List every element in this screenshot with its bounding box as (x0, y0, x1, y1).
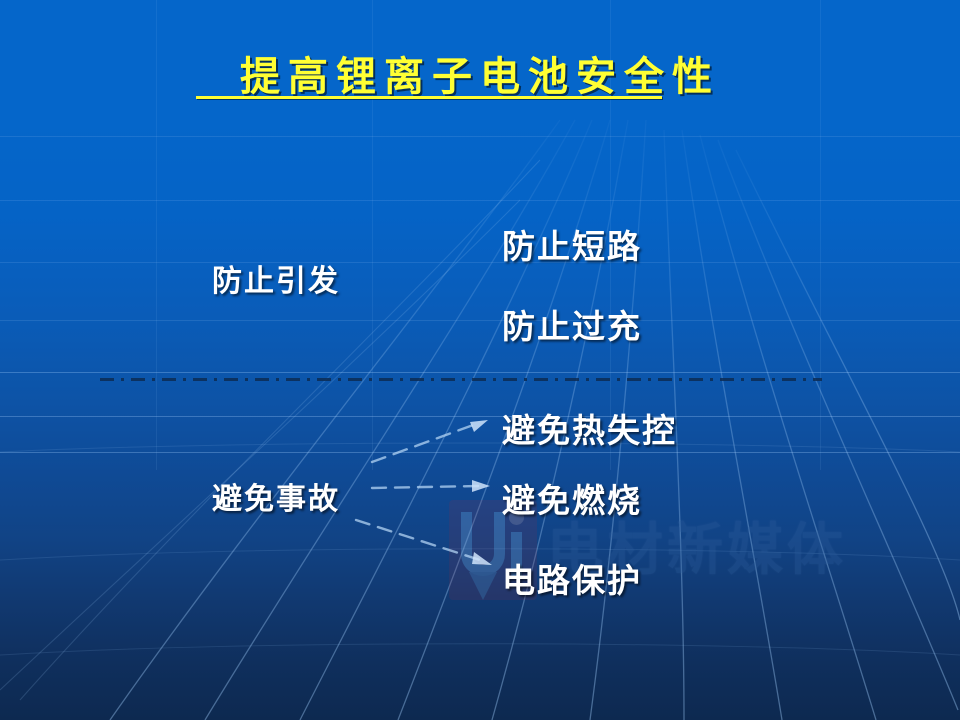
background-line (0, 262, 960, 263)
background-globe-graphic (0, 0, 960, 720)
item-avoid-combustion: 避免燃烧 (502, 474, 642, 522)
slide-title: 提高锂离子电池安全性 (0, 44, 960, 102)
item-prevent-overcharge: 防止过充 (502, 300, 642, 348)
section-divider (100, 368, 822, 371)
item-circuit-protection: 电路保护 (502, 554, 642, 602)
connector-arrows (0, 0, 960, 720)
arrow-line-circuit (356, 520, 480, 560)
arrowhead-thermal (470, 420, 488, 432)
background-line (0, 452, 960, 453)
background-line (0, 136, 960, 137)
background-line (0, 416, 960, 417)
arrow-line-thermal (372, 424, 476, 462)
arrowhead-combustion (472, 480, 490, 492)
item-avoid-thermal-runaway: 避免热失控 (502, 404, 677, 452)
group-label-avoid-accident: 避免事故 (212, 474, 340, 518)
arrow-line-combustion (372, 486, 478, 488)
group-label-prevent-trigger: 防止引发 (212, 256, 340, 300)
title-underline (196, 96, 662, 99)
arrowhead-circuit (472, 552, 492, 565)
presentation-slide: 电材新媒体 提高锂离子电池安全性 防止引发 防止短路 防止过充 避免事故 避免热… (0, 0, 960, 720)
item-prevent-short-circuit: 防止短路 (502, 220, 642, 268)
background-line (0, 372, 960, 373)
background-line (0, 320, 960, 321)
background-line (0, 200, 960, 201)
